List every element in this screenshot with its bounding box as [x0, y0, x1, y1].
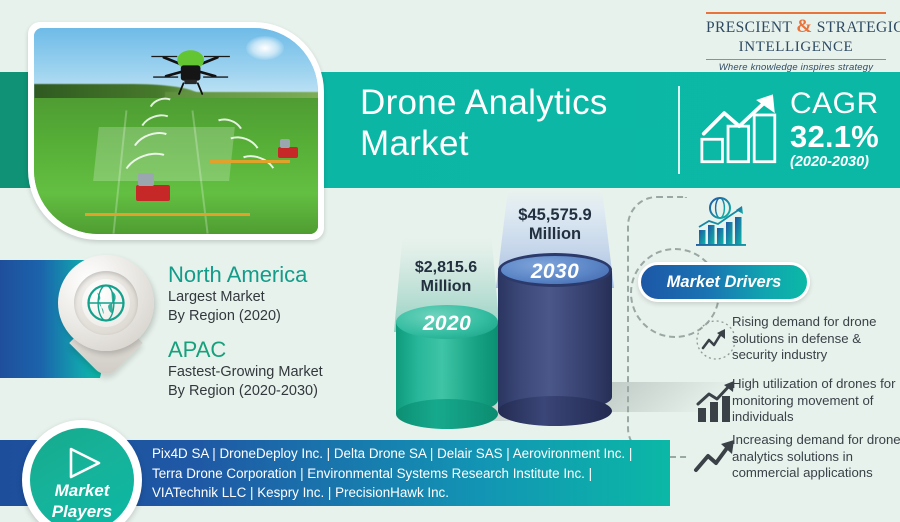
map-pin-icon — [58, 255, 154, 385]
tractor-cab-back — [280, 139, 290, 148]
hero-image-frame — [28, 22, 324, 240]
chart-bar-2020-base — [396, 399, 498, 429]
region-largest: North America Largest Market By Region (… — [168, 262, 378, 325]
logo-rule-top — [706, 12, 886, 14]
driver-text-1: Rising demand for drone solutions in def… — [732, 314, 900, 364]
ampersand-icon: & — [796, 16, 812, 37]
market-players-list: Pix4D SA | DroneDeploy Inc. | Delta Dron… — [152, 444, 657, 503]
region-largest-sub2: By Region (2020) — [168, 307, 378, 326]
region-fastest: APAC Fastest-Growing Market By Region (2… — [168, 337, 378, 400]
cagr-label: CAGR — [790, 88, 879, 120]
tractor-front — [136, 185, 170, 201]
globe-icon — [85, 282, 127, 324]
logo-word-prescient: PRESCIENT — [706, 19, 792, 36]
chart-value-label-2020: $2,815.6 Million — [390, 258, 502, 296]
chart-value-label-2030: $45,575.9 Million — [490, 206, 620, 244]
players-line-2: Terra Drone Corporation | Environmental … — [152, 464, 657, 484]
logo-word-strategic: STRATEGIC — [817, 19, 900, 36]
driver-text-3: Increasing demand for drone analytics so… — [732, 432, 900, 482]
header-divider — [678, 86, 680, 174]
region-fastest-name: APAC — [168, 337, 378, 363]
tractor-cab — [138, 173, 154, 186]
globe-bar-chart-icon — [690, 196, 752, 250]
growth-chart-arrow-icon — [700, 92, 786, 166]
play-triangle-icon — [66, 446, 102, 480]
players-label-line1: Market — [30, 480, 134, 501]
infographic-root: PRESCIENT & STRATEGIC INTELLIGENCE Where… — [0, 0, 900, 522]
hero-image-drone-field — [34, 28, 318, 234]
chart-bar-2030: 2030 — [498, 253, 612, 425]
cagr-period: (2020-2030) — [790, 153, 879, 171]
market-players-badge-inner: Market Players — [30, 428, 134, 522]
title-line-1: Drone Analytics — [360, 83, 608, 122]
logo-name-line2: INTELLIGENCE — [706, 39, 886, 56]
region-text-block: North America Largest Market By Region (… — [168, 262, 378, 400]
region-largest-sub1: Largest Market — [168, 288, 378, 307]
players-line-1: Pix4D SA | DroneDeploy Inc. | Delta Dron… — [152, 444, 657, 464]
market-players-badge: Market Players — [22, 420, 142, 522]
chart-value-2020-unit: Million — [390, 277, 502, 296]
chart-bar-2030-year: 2030 — [498, 260, 612, 284]
logo-rule-bottom — [706, 59, 886, 61]
market-drivers-heading: Market Drivers — [638, 262, 810, 302]
chart-value-2020-amount: $2,815.6 — [390, 258, 502, 277]
market-players-label: Market Players — [30, 480, 134, 522]
players-line-3: VIATechnik LLC | Kespry Inc. | Precision… — [152, 483, 657, 503]
region-largest-name: North America — [168, 262, 378, 288]
tractor-boom-front — [85, 213, 250, 216]
chart-value-2030-amount: $45,575.9 — [490, 206, 620, 225]
cagr-value: 32.1% — [790, 120, 879, 153]
chart-bar-2030-base — [498, 396, 612, 426]
company-logo: PRESCIENT & STRATEGIC INTELLIGENCE Where… — [706, 10, 886, 73]
page-title: Drone Analytics Market — [360, 82, 670, 164]
cagr-block: CAGR 32.1% (2020-2030) — [790, 88, 879, 171]
chart-bar-2020-year: 2020 — [396, 312, 498, 336]
players-label-line2: Players — [30, 501, 134, 522]
chart-bar-2020: 2020 — [396, 305, 498, 423]
chart-bar-2030-body — [498, 271, 612, 411]
driver-text-2: High utilization of drones for monitorin… — [732, 376, 900, 426]
region-fastest-sub2: By Region (2020-2030) — [168, 382, 378, 401]
tractor-back — [278, 147, 298, 158]
drone-icon — [131, 44, 250, 98]
market-drivers-label: Market Drivers — [641, 265, 807, 299]
region-fastest-sub1: Fastest-Growing Market — [168, 363, 378, 382]
logo-name-line1: PRESCIENT & STRATEGIC — [706, 16, 886, 38]
tractor-boom-back — [210, 160, 290, 163]
title-line-2: Market — [360, 123, 670, 164]
chart-value-2030-unit: Million — [490, 225, 620, 244]
